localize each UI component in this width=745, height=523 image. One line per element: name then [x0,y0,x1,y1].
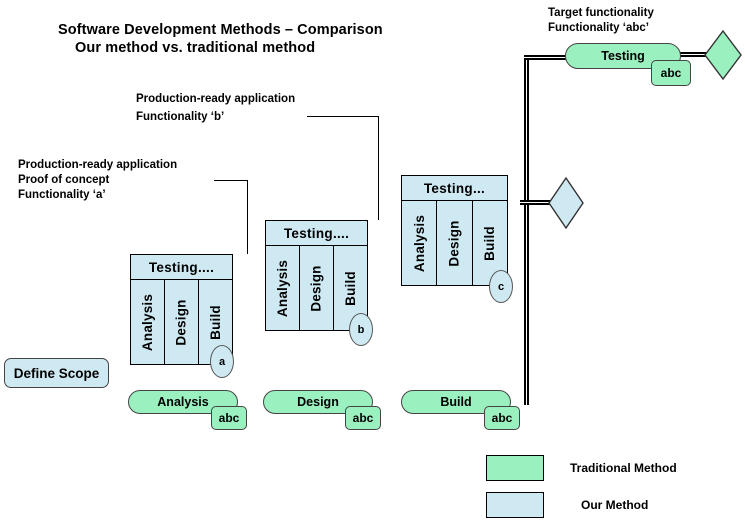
pill-design-label: Design [297,395,339,409]
stack-b-badge-label: b [358,324,365,336]
pill-analysis-label: Analysis [157,395,208,409]
callout-a-leader-vertical [247,180,248,254]
pill-build-badge[interactable]: abc [484,406,520,430]
define-scope-box[interactable]: Define Scope [4,358,109,388]
callout-a-line2: Proof of concept [18,173,109,188]
legend-our-label: Our Method [581,498,648,512]
stack-a-col-design[interactable]: Design [165,280,199,364]
stack-a-header: Testing.... [131,255,232,280]
stack-c-badge[interactable]: c [489,270,513,303]
stack-c-col-analysis-label: Analysis [412,214,427,271]
stack-b-col-build-label: Build [343,271,358,306]
stack-b-badge[interactable]: b [349,313,373,346]
legend-our-swatch [486,492,544,518]
callout-b-line2: Functionality ‘b’ [136,110,224,125]
stack-c-columns: Analysis Design Build [402,201,507,285]
stack-b-col-design[interactable]: Design [300,246,334,330]
stack-a-col-analysis[interactable]: Analysis [131,280,165,364]
callout-b-line1: Production-ready application [136,92,295,107]
define-scope-label: Define Scope [14,366,100,381]
callout-a-line3: Functionality ‘a’ [18,188,106,203]
pill-testing-badge[interactable]: abc [651,60,691,86]
callout-target-line2: Functionality ‘abc’ [548,21,649,36]
stack-b-col-analysis-label: Analysis [275,259,290,316]
legend-traditional-label: Traditional Method [570,461,677,475]
pill-testing-badge-label: abc [661,66,682,80]
stack-c-col-design-label: Design [447,220,462,266]
timeline-spine [524,55,529,405]
stack-c-col-analysis[interactable]: Analysis [402,201,437,285]
stack-c-badge-label: c [498,281,504,293]
diagram-canvas: Software Development Methods – Compariso… [0,0,745,523]
pill-design-badge-label: abc [353,411,374,425]
stack-b-header: Testing.... [266,221,367,246]
page-title-line2: Our method vs. traditional method [75,40,315,56]
green-milestone-diamond [704,30,742,80]
callout-b-leader-horizontal [307,116,379,117]
stack-c-col-design[interactable]: Design [437,201,472,285]
pill-analysis-badge[interactable]: abc [211,406,247,430]
callout-target-line1: Target functionality [548,6,654,21]
stack-c-header: Testing... [402,176,507,201]
pill-design-badge[interactable]: abc [345,406,381,430]
page-title-line1: Software Development Methods – Compariso… [58,22,383,38]
callout-a-leader-horizontal [214,180,248,181]
pill-build-badge-label: abc [492,411,513,425]
stack-b-col-design-label: Design [309,265,324,311]
pill-testing-label: Testing [601,49,645,63]
pill-analysis-badge-label: abc [219,411,240,425]
callout-a-line1: Production-ready application [18,158,177,173]
legend-traditional-swatch [486,455,544,481]
stack-a-badge-label: a [219,356,225,368]
callout-b-leader-vertical [378,116,379,220]
blue-milestone-diamond [548,177,584,229]
stack-a-col-design-label: Design [174,299,189,345]
stack-c[interactable]: Testing... Analysis Design Build [401,175,508,286]
stack-a-badge[interactable]: a [210,345,234,378]
stack-b-col-analysis[interactable]: Analysis [266,246,300,330]
pill-build-label: Build [440,395,471,409]
stack-c-col-build-label: Build [482,226,497,261]
stack-a-col-build-label: Build [208,305,223,340]
stack-a-col-analysis-label: Analysis [140,293,155,350]
stack-b[interactable]: Testing.... Analysis Design Build [265,220,368,331]
